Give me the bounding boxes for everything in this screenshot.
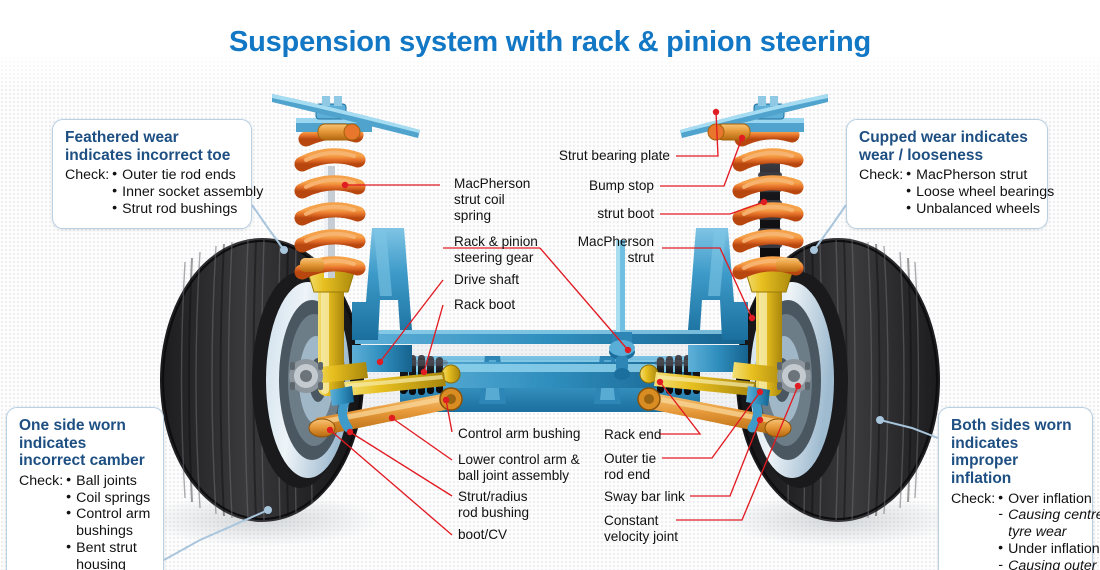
callout-subitem-continued: tyre wear — [998, 524, 1100, 541]
label-strut-radius-rod-bushing: Strut/radius rod bushing — [458, 489, 529, 521]
callout-item: Bent strut — [66, 540, 150, 557]
callout-check-label: Check: — [859, 167, 903, 184]
label-constant-velocity-joint: Constant velocity joint — [604, 513, 678, 545]
callout-feathered-wear[interactable]: Feathered wear indicates incorrect toe C… — [52, 119, 252, 229]
label-bump-stop: Bump stop — [476, 178, 654, 194]
label-control-arm-bushing: Control arm bushing — [458, 426, 580, 442]
callout-check-label: Check: — [19, 473, 63, 490]
callout-item: MacPherson strut — [906, 167, 1054, 184]
callout-one-side-worn[interactable]: One side worn indicates incorrect camber… — [6, 407, 164, 570]
callout-item: Control arm — [66, 506, 150, 523]
callout-item: Unbalanced wheels — [906, 201, 1054, 218]
callout-item-list: Ball joints Coil springs Control arm bus… — [66, 473, 150, 570]
label-rack-boot: Rack boot — [454, 297, 515, 313]
label-strut-bearing-plate: Strut bearing plate — [476, 148, 670, 164]
callout-item: Over inflation — [998, 491, 1100, 508]
callout-heading: Both sides worn indicates improper infla… — [951, 417, 1080, 488]
callout-item-list: Outer tie rod ends Inner socket assembly… — [112, 167, 263, 217]
label-drive-shaft: Drive shaft — [454, 272, 519, 288]
label-lower-control-arm-ball-joint: Lower control arm & ball joint assembly — [458, 452, 580, 484]
callout-check-label: Check: — [65, 167, 109, 184]
callout-item-continued: housing — [66, 557, 150, 570]
callout-item: Strut rod bushings — [112, 201, 263, 218]
callout-cupped-wear[interactable]: Cupped wear indicates wear / looseness C… — [846, 119, 1048, 229]
callout-item: Coil springs — [66, 490, 150, 507]
callout-item-list: MacPherson strut Loose wheel bearings Un… — [906, 167, 1054, 217]
page-title: Suspension system with rack & pinion ste… — [0, 26, 1100, 59]
callout-subitem: Causing outer — [998, 558, 1100, 570]
label-macpherson-strut: MacPherson strut — [476, 234, 654, 266]
callout-check-label: Check: — [951, 491, 995, 508]
callout-heading: One side worn indicates incorrect camber — [19, 417, 151, 470]
callout-heading: Cupped wear indicates wear / looseness — [859, 129, 1035, 164]
callout-item: Ball joints — [66, 473, 150, 490]
callout-item: Loose wheel bearings — [906, 184, 1054, 201]
label-strut-boot: strut boot — [476, 206, 654, 222]
callout-heading: Feathered wear indicates incorrect toe — [65, 129, 239, 164]
callout-item-continued: bushings — [66, 523, 150, 540]
callout-subitem: Causing centre — [998, 507, 1100, 524]
callout-item: Inner socket assembly — [112, 184, 263, 201]
label-outer-tie-rod-end: Outer tie rod end — [604, 451, 656, 483]
label-rack-end: Rack end — [604, 427, 661, 443]
label-sway-bar-link: Sway bar link — [604, 489, 685, 505]
callout-item: Outer tie rod ends — [112, 167, 263, 184]
label-boot-cv: boot/CV — [458, 527, 507, 543]
callout-item-list: Over inflation Causing centre tyre wear … — [998, 491, 1100, 570]
callout-item: Under inflation — [998, 541, 1100, 558]
diagram-canvas: Suspension system with rack & pinion ste… — [0, 0, 1100, 570]
callout-both-sides-worn[interactable]: Both sides worn indicates improper infla… — [938, 407, 1093, 570]
